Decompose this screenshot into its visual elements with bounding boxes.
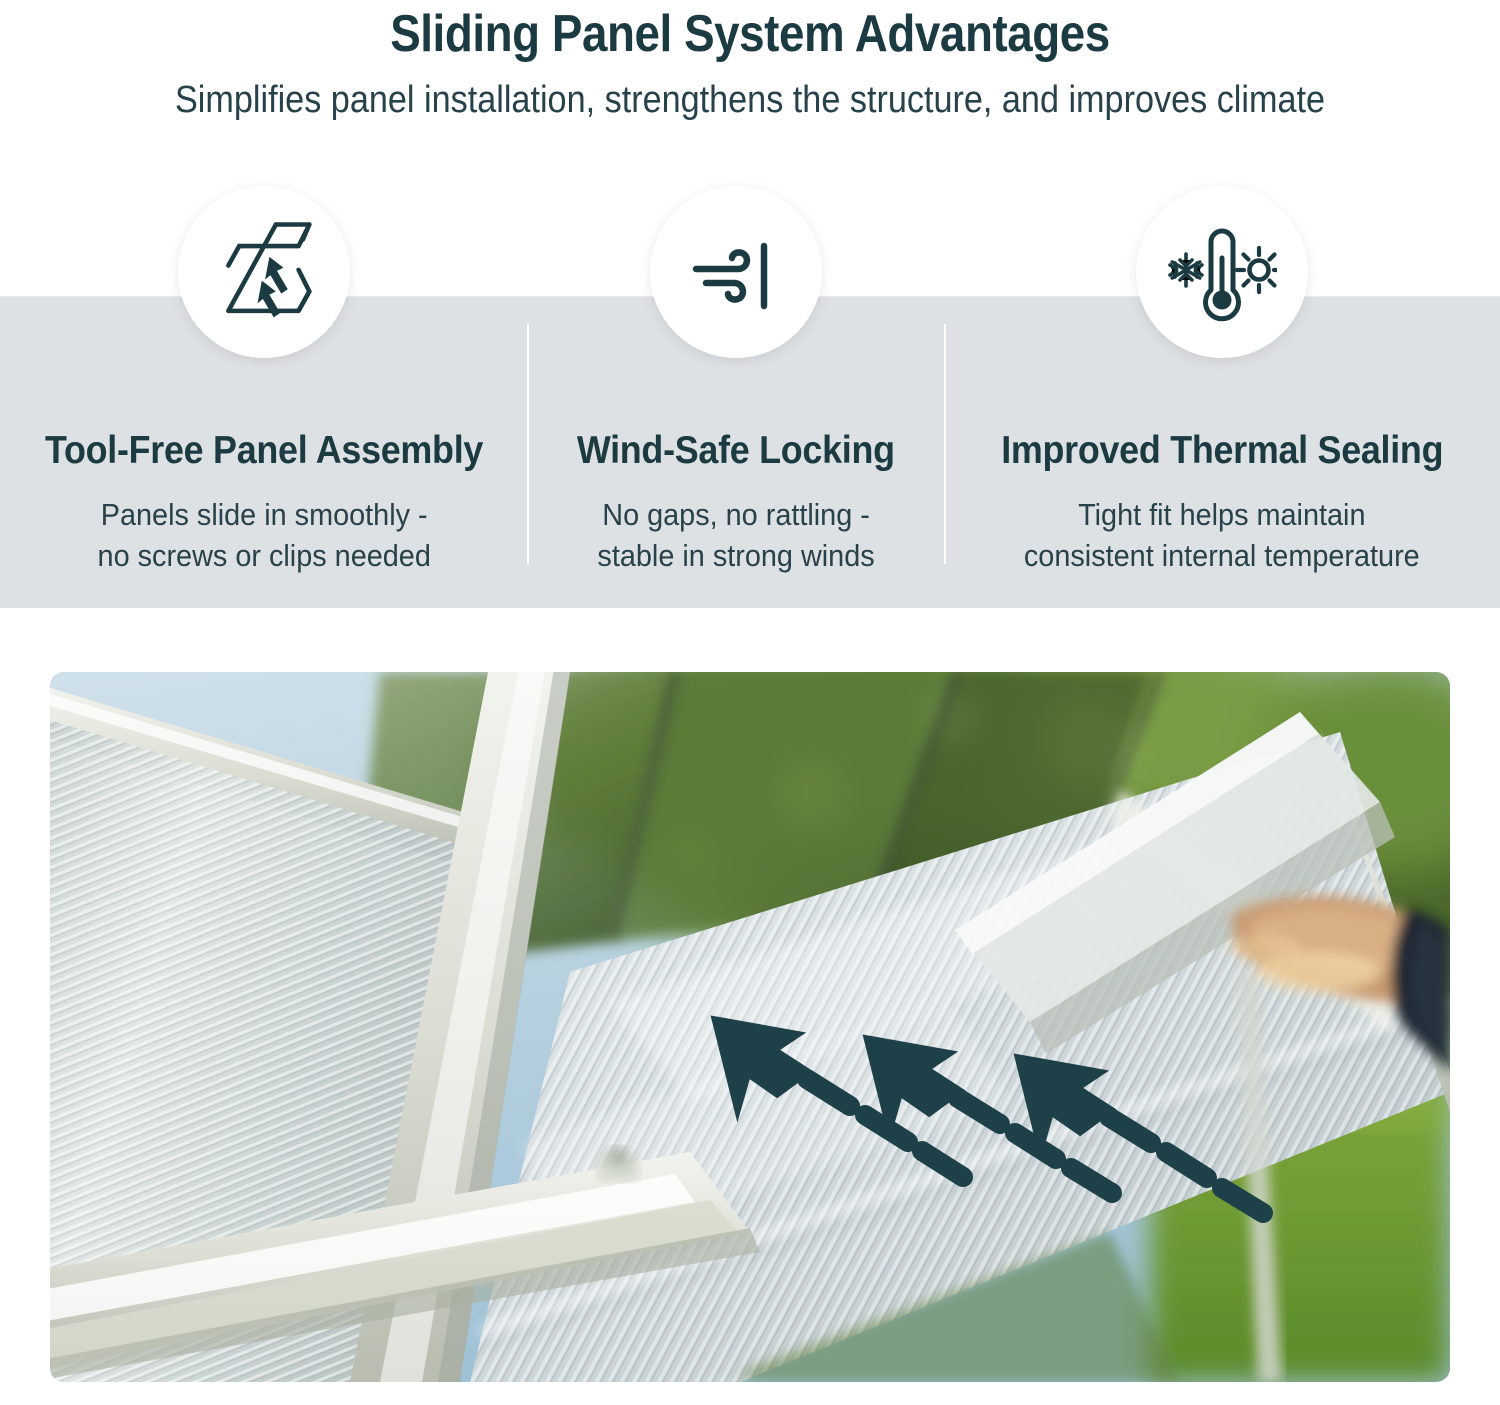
thermometer-snowflake-sun-icon	[1167, 220, 1277, 324]
feature-icon-circle	[1136, 186, 1308, 358]
feature-icon-circle	[650, 186, 822, 358]
feature-title: Improved Thermal Sealing	[1001, 430, 1443, 473]
feature-item-wind-safe-locking: Wind-Safe Locking No gaps, no rattling -…	[528, 186, 944, 606]
feature-item-tool-free-panel-assembly: Tool-Free Panel Assembly Panels slide in…	[0, 186, 528, 606]
page-subtitle: Simplifies panel installation, strengthe…	[75, 79, 1425, 123]
product-photo	[50, 672, 1450, 1382]
infographic-page: Sliding Panel System Advantages Simplifi…	[0, 0, 1500, 1405]
feature-icon-circle	[178, 186, 350, 358]
wind-barrier-icon	[686, 222, 786, 322]
feature-item-improved-thermal-sealing: Improved Thermal Sealing Tight fit helps…	[944, 186, 1500, 606]
feature-title: Tool-Free Panel Assembly	[45, 430, 483, 473]
feature-description: No gaps, no rattling - stable in strong …	[597, 495, 874, 577]
greenhouse-sliding-panel-photo	[50, 672, 1450, 1382]
page-title: Sliding Panel System Advantages	[90, 6, 1410, 63]
sliding-panel-rail-icon	[210, 218, 318, 326]
feature-list: Tool-Free Panel Assembly Panels slide in…	[0, 186, 1500, 606]
header: Sliding Panel System Advantages Simplifi…	[0, 0, 1500, 150]
feature-title: Wind-Safe Locking	[577, 430, 895, 473]
feature-description: Tight fit helps maintain consistent inte…	[1024, 495, 1420, 577]
feature-description: Panels slide in smoothly - no screws or …	[97, 495, 430, 577]
